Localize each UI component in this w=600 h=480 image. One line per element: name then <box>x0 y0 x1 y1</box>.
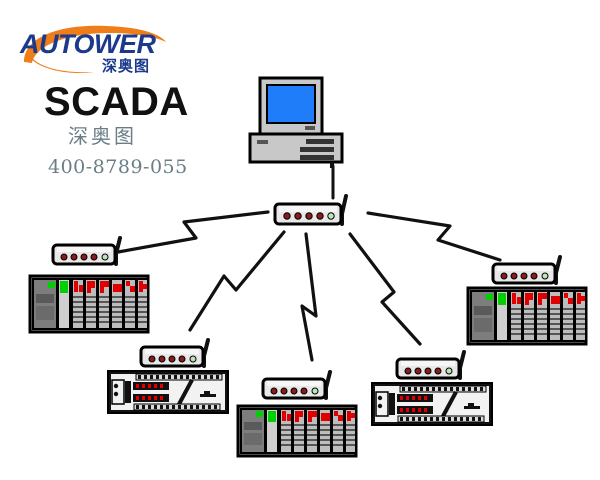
router-led-4 <box>531 273 537 279</box>
plc-power-vent <box>244 433 262 445</box>
router-led-1 <box>501 273 507 279</box>
plc-io-module <box>293 409 305 453</box>
router-led-5 <box>102 254 108 260</box>
plc-power-label <box>36 294 54 303</box>
plc-io-module <box>549 291 561 341</box>
router-led-3 <box>81 254 87 260</box>
plc-io-module <box>575 291 586 341</box>
plc-io-module <box>98 279 110 329</box>
link-central-to-right <box>368 213 500 260</box>
controller-power-terminal-1 <box>114 384 118 388</box>
plc-io-module <box>111 279 123 329</box>
router-antenna-icon <box>326 372 330 398</box>
plc-io-module <box>536 291 548 341</box>
pc-drive-bay-1 <box>306 139 334 144</box>
router-led-2 <box>511 273 517 279</box>
plc-power-vent <box>474 318 492 332</box>
controller-brand-mark <box>200 394 216 397</box>
controller-terminal-strip-top <box>136 374 222 380</box>
plc-power-led <box>48 282 55 288</box>
page-title: SCADA <box>44 82 189 122</box>
plc-rack-left[interactable] <box>28 272 152 336</box>
autower-logo: AUTOWER 深奥图 <box>14 16 184 76</box>
router-led-5 <box>446 368 452 374</box>
central-wireless-router[interactable] <box>272 194 358 244</box>
controller-connector-block <box>125 381 131 403</box>
plc-io-modules <box>72 279 148 329</box>
plc-cpu-run-led <box>268 411 276 422</box>
link-central-to-bottom-center <box>302 234 316 360</box>
router-led-5 <box>312 388 318 394</box>
plc-io-module <box>72 279 84 329</box>
compact-controller-bottom-left[interactable] <box>106 368 232 416</box>
plc-rack-right[interactable] <box>466 284 590 348</box>
router-led-1 <box>284 213 290 219</box>
router-led-1 <box>149 356 155 362</box>
controller-connector-block <box>389 393 395 415</box>
plc-power-led <box>486 294 493 300</box>
router-led-5 <box>542 273 548 279</box>
router-antenna-icon <box>342 196 346 224</box>
controller-power-module <box>376 392 388 416</box>
router-led-5 <box>190 356 196 362</box>
page-subtitle-cn: 深奥图 <box>68 126 137 146</box>
scada-workstation[interactable] <box>248 76 344 168</box>
controller-terminal-strip-bottom <box>134 404 220 410</box>
link-central-to-bottom-right <box>350 234 420 344</box>
pc-drive-bay-2 <box>300 147 334 152</box>
link-central-to-left <box>118 212 268 252</box>
router-led-2 <box>71 254 77 260</box>
plc-io-module <box>280 409 292 453</box>
scada-network-diagram: AUTOWER 深奥图 SCADA 深奥图 400-8789-055 <box>0 0 600 480</box>
controller-power-module <box>112 380 124 404</box>
router-led-3 <box>169 356 175 362</box>
plc-power-label <box>244 422 262 430</box>
router-led-4 <box>91 254 97 260</box>
contact-phone: 400-8789-055 <box>48 158 188 177</box>
plc-io-module <box>124 279 136 329</box>
plc-power-led <box>256 411 263 417</box>
plc-io-modules <box>280 409 356 453</box>
plc-power-label <box>474 306 492 315</box>
plc-io-module <box>523 291 535 341</box>
router-led-5 <box>328 213 334 219</box>
plc-power-vent <box>36 306 54 320</box>
router-top-face <box>145 349 199 354</box>
router-led-3 <box>306 213 312 219</box>
router-antenna-icon <box>204 340 208 366</box>
router-led-1 <box>61 254 67 260</box>
router-led-4 <box>179 356 185 362</box>
controller-power-terminal-2 <box>114 392 118 396</box>
plc-io-module <box>319 409 331 453</box>
logo-wordmark-cn: 深奥图 <box>102 57 150 75</box>
router-led-3 <box>291 388 297 394</box>
plc-io-module <box>306 409 318 453</box>
plc-io-modules <box>510 291 586 341</box>
router-led-1 <box>271 388 277 394</box>
router-top-face <box>267 381 321 386</box>
router-led-2 <box>295 213 301 219</box>
router-led-2 <box>159 356 165 362</box>
controller-terminal-strip-bottom <box>398 416 484 422</box>
compact-controller-bottom-right[interactable] <box>370 380 496 428</box>
controller-power-terminal-1 <box>378 396 382 400</box>
router-top-face <box>497 266 551 271</box>
plc-io-module <box>137 279 148 329</box>
router-antenna-icon <box>556 257 560 283</box>
plc-cpu-run-led <box>60 281 68 293</box>
router-led-3 <box>425 368 431 374</box>
plc-io-module <box>345 409 356 453</box>
monitor-screen <box>267 85 315 123</box>
plc-rack-bottom-center[interactable] <box>236 402 360 462</box>
plc-io-module <box>332 409 344 453</box>
controller-terminal-strip-top <box>400 386 486 392</box>
router-led-2 <box>415 368 421 374</box>
router-top-face <box>57 247 111 252</box>
controller-brand-mark-2 <box>204 391 210 394</box>
pc-floppy-slot <box>257 140 268 144</box>
pc-drive-bay-3 <box>300 155 334 160</box>
router-led-3 <box>521 273 527 279</box>
plc-io-module <box>85 279 97 329</box>
router-antenna-icon <box>116 238 120 264</box>
router-top-face <box>279 206 337 212</box>
router-top-face <box>401 361 455 366</box>
controller-brand-mark <box>464 406 480 409</box>
monitor-power-led <box>305 126 315 130</box>
controller-brand-mark-2 <box>468 403 474 406</box>
router-led-4 <box>317 213 323 219</box>
pc-cable-stub <box>330 162 334 168</box>
logo-wordmark: AUTOWER <box>19 29 156 59</box>
plc-io-module <box>510 291 522 341</box>
router-led-4 <box>435 368 441 374</box>
plc-io-module <box>562 291 574 341</box>
router-led-1 <box>405 368 411 374</box>
router-led-4 <box>301 388 307 394</box>
router-antenna-icon <box>460 352 464 378</box>
router-led-2 <box>281 388 287 394</box>
controller-power-terminal-2 <box>378 404 382 408</box>
plc-cpu-run-led <box>498 293 506 305</box>
link-central-to-bottom-left <box>190 232 284 330</box>
